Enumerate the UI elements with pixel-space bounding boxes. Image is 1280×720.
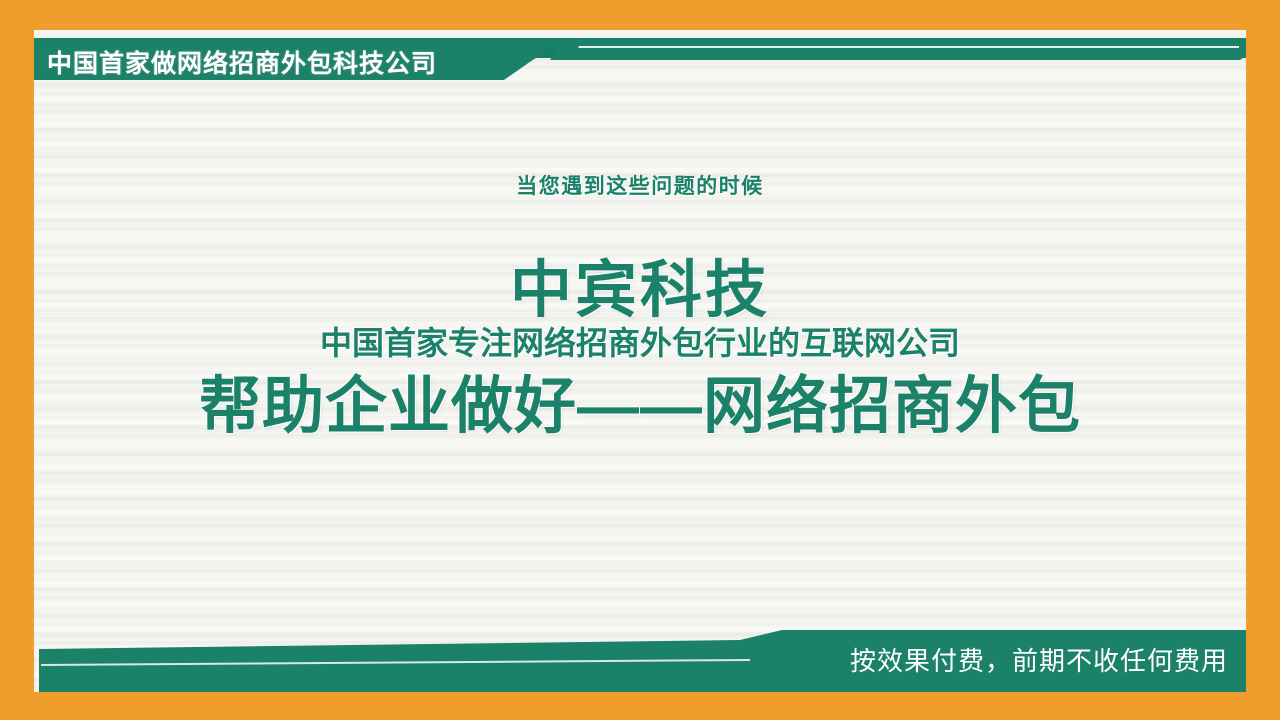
footer-text: 按效果付费，前期不收任何费用 [850, 641, 1228, 678]
brand-name: 中宾科技 [34, 258, 1246, 323]
slide-canvas: 中国首家做网络招商外包科技公司 当您遇到这些问题的时候 中宾科技 中国首家专注网… [0, 0, 1280, 720]
slide-body: 当您遇到这些问题的时候 中宾科技 中国首家专注网络招商外包行业的互联网公司 帮助… [34, 30, 1246, 692]
slide-paper-background: 中国首家做网络招商外包科技公司 当您遇到这些问题的时候 中宾科技 中国首家专注网… [34, 30, 1246, 692]
lead-text: 当您遇到这些问题的时候 [34, 170, 1246, 200]
headline-text: 帮助企业做好——网络招商外包 [34, 355, 1246, 445]
